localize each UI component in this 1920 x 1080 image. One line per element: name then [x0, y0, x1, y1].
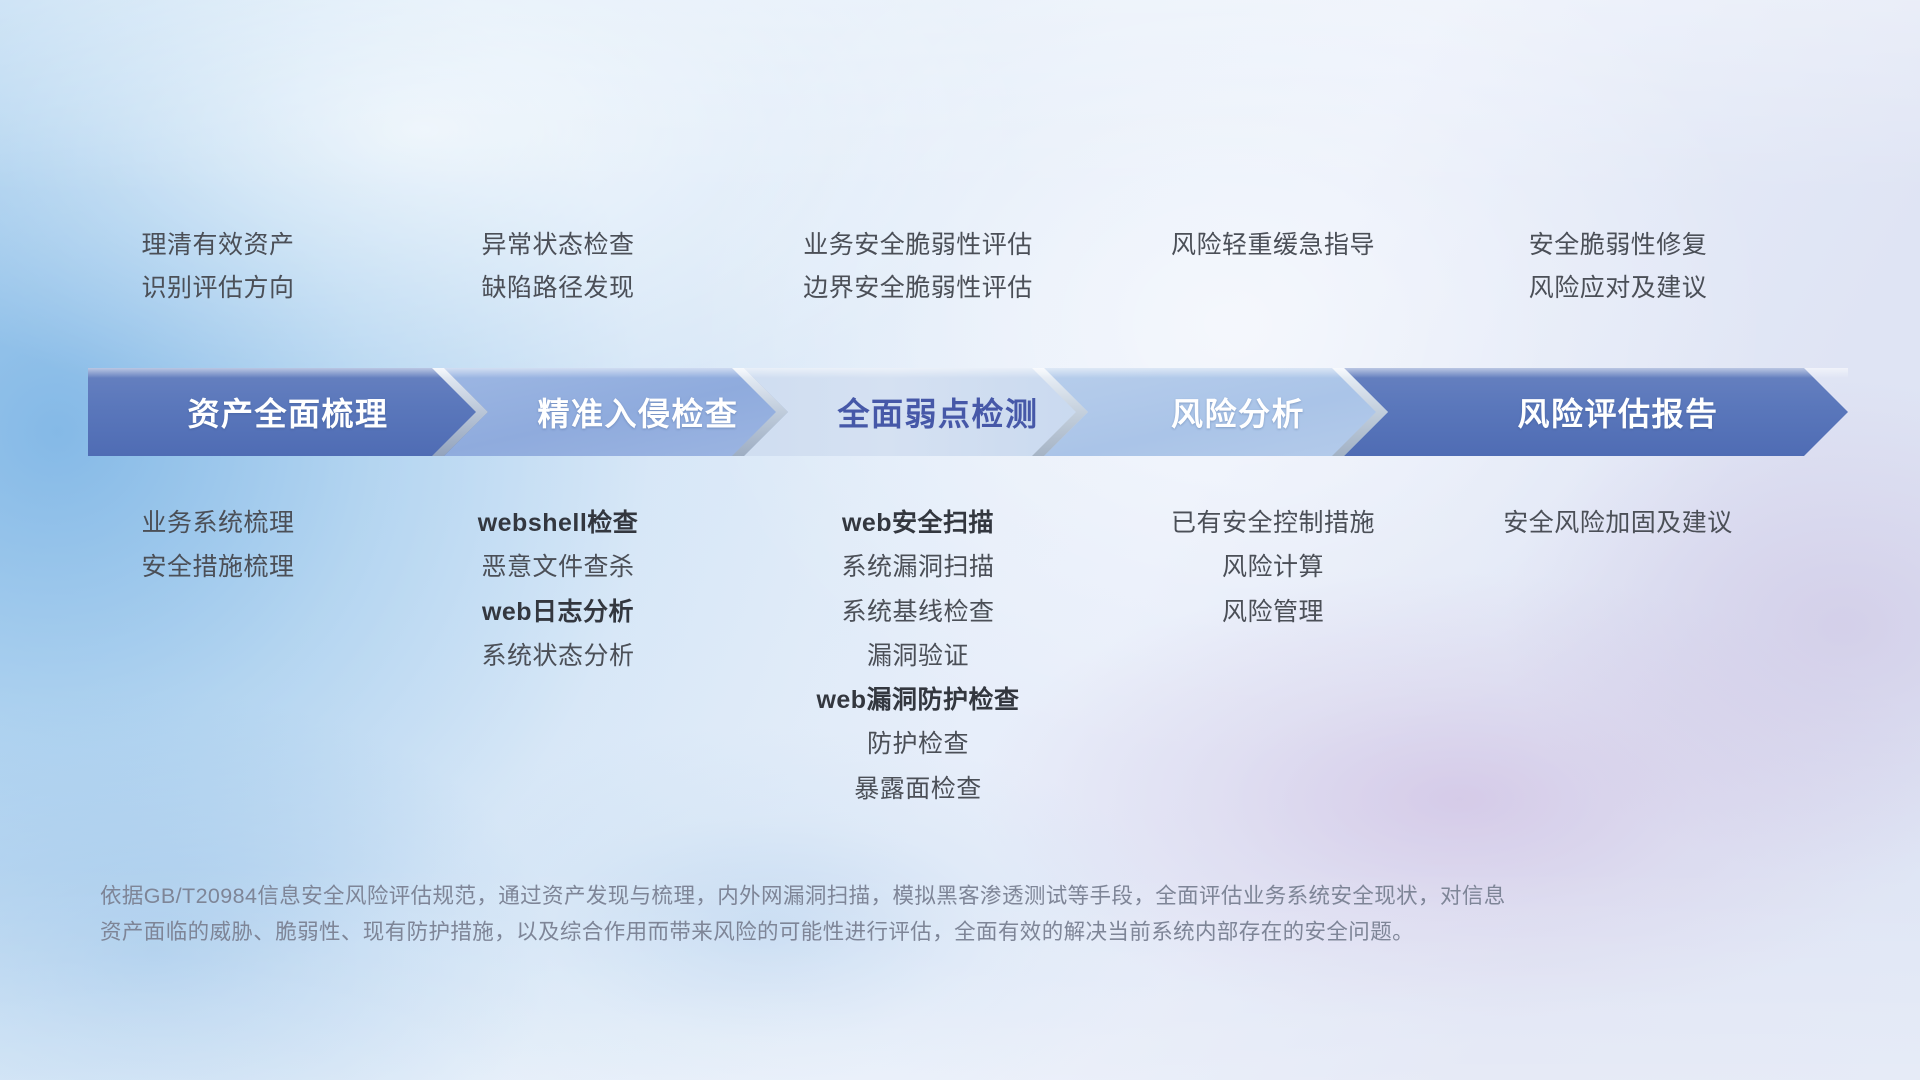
top-annotation-item: 业务安全脆弱性评估 [803, 230, 1033, 261]
top-annotations-stage-4: 风险轻重缓急指导 [1108, 230, 1438, 305]
top-annotation-item: 识别评估方向 [141, 273, 294, 304]
top-annotations-stage-1: 理清有效资产 识别评估方向 [48, 230, 388, 305]
detail-item: 系统基线检查 [841, 597, 994, 628]
bottom-details-stage-2: webshell检查 恶意文件查杀 web日志分析 系统状态分析 [388, 508, 728, 672]
bottom-details-row: 业务系统梳理 安全措施梳理 webshell检查 恶意文件查杀 web日志分析 … [0, 508, 1920, 805]
footer-description: 依据GB/T20984信息安全风险评估规范，通过资产发现与梳理，内外网漏洞扫描，… [100, 878, 1680, 950]
process-chevron-band [88, 368, 1848, 456]
bottom-details-stage-3: web安全扫描 系统漏洞扫描 系统基线检查 漏洞验证 web漏洞防护检查 防护检… [728, 508, 1108, 805]
footer-line-1: 依据GB/T20984信息安全风险评估规范，通过资产发现与梳理，内外网漏洞扫描，… [100, 878, 1680, 914]
top-annotation-item: 缺陷路径发现 [481, 273, 634, 304]
detail-item: 系统漏洞扫描 [841, 552, 994, 583]
top-annotation-item: 安全脆弱性修复 [1529, 230, 1708, 261]
detail-item: 风险计算 [1222, 552, 1324, 583]
bottom-details-stage-5: 安全风险加固及建议 [1438, 508, 1798, 539]
detail-item: 已有安全控制措施 [1171, 508, 1375, 539]
detail-item: 恶意文件查杀 [481, 552, 634, 583]
detail-item: 系统状态分析 [481, 641, 634, 672]
chevron-top-sheen [88, 368, 1848, 378]
bottom-details-stage-4: 已有安全控制措施 风险计算 风险管理 [1108, 508, 1438, 628]
detail-item: 安全风险加固及建议 [1503, 508, 1733, 539]
slide-canvas: 理清有效资产 识别评估方向 异常状态检查 缺陷路径发现 业务安全脆弱性评估 边界… [0, 0, 1920, 1080]
top-annotation-item: 理清有效资产 [141, 230, 294, 261]
chevron-band-svg [88, 368, 1848, 456]
detail-item: 安全措施梳理 [141, 552, 294, 583]
detail-item: webshell检查 [478, 508, 639, 539]
detail-item: web漏洞防护检查 [816, 685, 1019, 716]
detail-item: web日志分析 [482, 597, 634, 628]
top-annotations-stage-5: 安全脆弱性修复 风险应对及建议 [1438, 230, 1798, 305]
top-annotations-stage-3: 业务安全脆弱性评估 边界安全脆弱性评估 [728, 230, 1108, 305]
detail-item: web安全扫描 [842, 508, 994, 539]
top-annotation-item: 边界安全脆弱性评估 [803, 273, 1033, 304]
detail-item: 风险管理 [1222, 597, 1324, 628]
detail-item: 防护检查 [867, 729, 969, 760]
top-annotations-stage-2: 异常状态检查 缺陷路径发现 [388, 230, 728, 305]
top-annotations-row: 理清有效资产 识别评估方向 异常状态检查 缺陷路径发现 业务安全脆弱性评估 边界… [0, 230, 1920, 305]
top-annotation-item: 风险轻重缓急指导 [1171, 230, 1375, 261]
bottom-details-stage-1: 业务系统梳理 安全措施梳理 [48, 508, 388, 584]
chevron-shape-stage-1 [88, 368, 488, 456]
detail-item: 业务系统梳理 [141, 508, 294, 539]
detail-item: 漏洞验证 [867, 641, 969, 672]
top-annotation-item: 异常状态检查 [481, 230, 634, 261]
footer-line-2: 资产面临的威胁、脆弱性、现有防护措施，以及综合作用而带来风险的可能性进行评估，全… [100, 914, 1680, 950]
detail-item: 暴露面检查 [854, 774, 982, 805]
top-annotation-item: 风险应对及建议 [1529, 273, 1708, 304]
